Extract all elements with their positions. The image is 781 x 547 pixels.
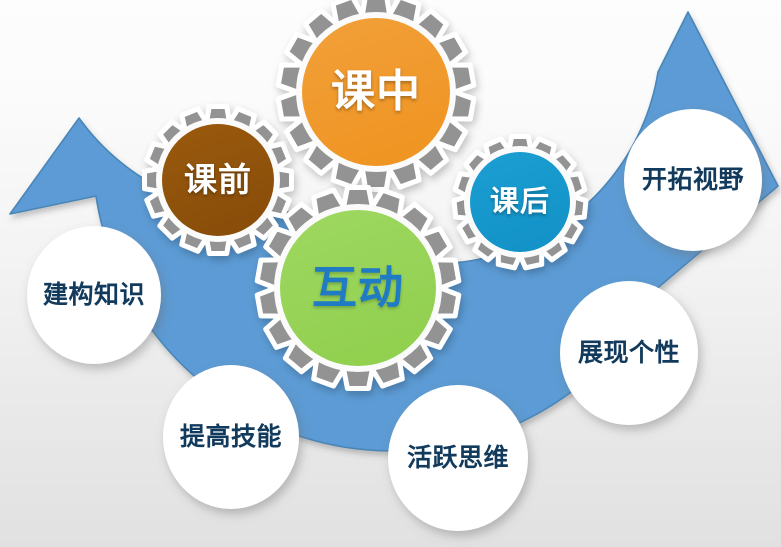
gear-disc — [162, 124, 274, 236]
bubble-shape — [560, 281, 698, 425]
bubble-improve-skills[interactable] — [163, 365, 299, 509]
gear-after-class[interactable] — [454, 137, 586, 268]
gear-during-class[interactable] — [278, 0, 474, 189]
bubble-shape — [27, 226, 161, 364]
bubble-active-thinking[interactable] — [388, 385, 528, 531]
gear-and-arrow-artwork — [0, 0, 781, 547]
bubble-build-knowledge[interactable] — [27, 226, 161, 364]
gear-interaction[interactable] — [257, 188, 459, 389]
bubble-broaden-horizons[interactable] — [624, 109, 762, 251]
bubble-shape — [624, 109, 762, 251]
bubble-shape — [388, 385, 528, 531]
gear-before-class[interactable] — [145, 107, 292, 254]
diagram-canvas: 课前课中课后互动建构知识提高技能活跃思维展现个性开拓视野 — [0, 0, 781, 547]
gear-disc — [470, 152, 570, 252]
gear-disc — [280, 210, 436, 366]
bubble-show-personality[interactable] — [560, 281, 698, 425]
bubble-shape — [163, 365, 299, 509]
gear-disc — [302, 18, 450, 166]
